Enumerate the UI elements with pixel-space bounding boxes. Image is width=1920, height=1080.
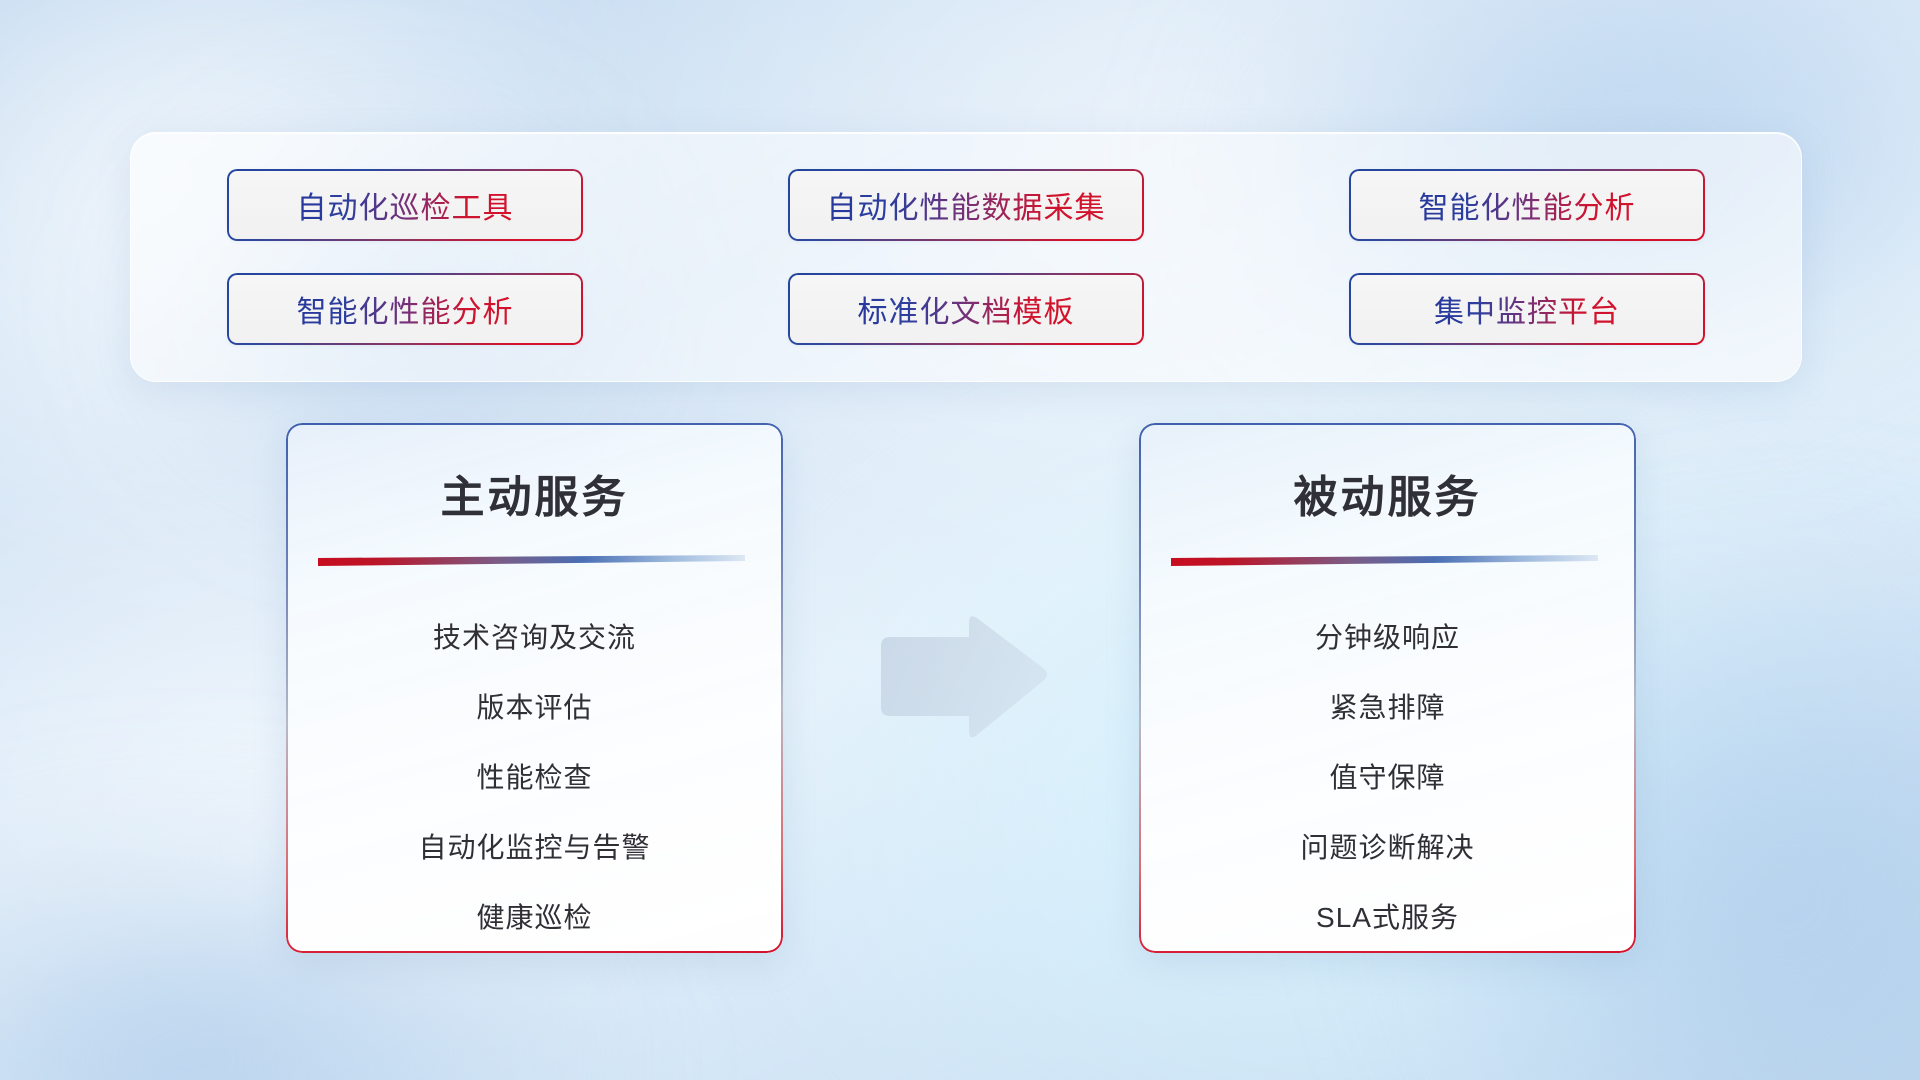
capability-pill-label: 标准化文档模板 bbox=[858, 287, 1075, 331]
capability-pill-label: 智能化性能分析 bbox=[1419, 183, 1636, 227]
capability-pill-label: 集中监控平台 bbox=[1434, 287, 1620, 331]
list-item: 分钟级响应 bbox=[1139, 603, 1636, 673]
list-item: 版本评估 bbox=[286, 673, 783, 743]
capability-pill-label: 自动化巡检工具 bbox=[297, 183, 514, 227]
list-item: 健康巡检 bbox=[286, 883, 783, 953]
capability-row: 自动化巡检工具 自动化性能数据采集 智能化性能分析 bbox=[227, 169, 1705, 241]
service-card-list: 分钟级响应 紧急排障 值守保障 问题诊断解决 SLA式服务 bbox=[1139, 603, 1636, 953]
arrow-right-icon bbox=[873, 613, 1053, 743]
capability-pill-label: 自动化性能数据采集 bbox=[827, 183, 1106, 227]
list-item: 自动化监控与告警 bbox=[286, 813, 783, 883]
list-item: 问题诊断解决 bbox=[1139, 813, 1636, 883]
list-item: 值守保障 bbox=[1139, 743, 1636, 813]
card-divider bbox=[318, 555, 745, 567]
capability-pill-centralized-monitoring-platform[interactable]: 集中监控平台 bbox=[1349, 273, 1705, 345]
service-card-list: 技术咨询及交流 版本评估 性能检查 自动化监控与告警 健康巡检 bbox=[286, 603, 783, 953]
list-item: 性能检查 bbox=[286, 743, 783, 813]
service-card-reactive: 被动服务 分钟级响应 紧急排障 值守保障 问题诊断解决 SLA式服务 bbox=[1139, 423, 1636, 953]
service-card-title: 主动服务 bbox=[286, 461, 783, 525]
capabilities-panel: 自动化巡检工具 自动化性能数据采集 智能化性能分析 智能化性能分析 标准化文档模… bbox=[130, 132, 1802, 382]
card-divider bbox=[1171, 555, 1598, 567]
capability-pill-automated-inspection-tool[interactable]: 自动化巡检工具 bbox=[227, 169, 583, 241]
capability-row: 智能化性能分析 标准化文档模板 集中监控平台 bbox=[227, 273, 1705, 345]
list-item: 技术咨询及交流 bbox=[286, 603, 783, 673]
capability-pill-intelligent-performance-analysis-top[interactable]: 智能化性能分析 bbox=[1349, 169, 1705, 241]
list-item: 紧急排障 bbox=[1139, 673, 1636, 743]
capability-pill-automated-performance-data-collection[interactable]: 自动化性能数据采集 bbox=[788, 169, 1144, 241]
service-card-title: 被动服务 bbox=[1139, 461, 1636, 525]
list-item: SLA式服务 bbox=[1139, 883, 1636, 953]
capability-pill-standardized-document-template[interactable]: 标准化文档模板 bbox=[788, 273, 1144, 345]
capability-pill-intelligent-performance-analysis[interactable]: 智能化性能分析 bbox=[227, 273, 583, 345]
service-card-proactive: 主动服务 技术咨询及交流 版本评估 性能检查 自动化监控与告警 健康巡检 bbox=[286, 423, 783, 953]
capability-pill-label: 智能化性能分析 bbox=[297, 287, 514, 331]
